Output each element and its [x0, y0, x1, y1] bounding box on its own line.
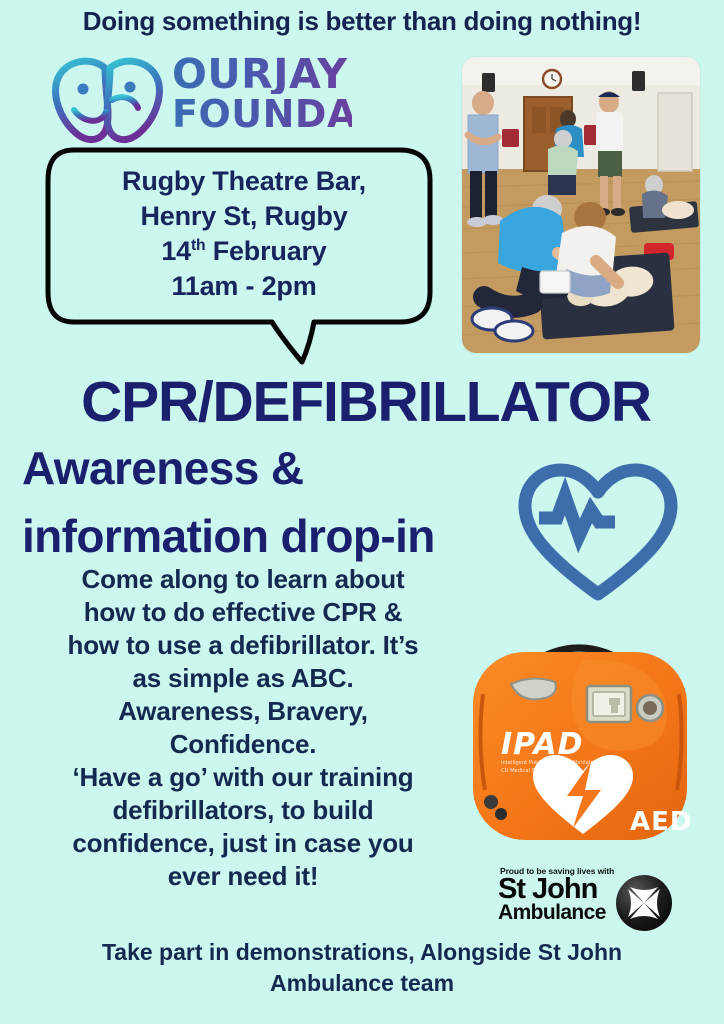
- headline-main: CPR/DEFIBRILLATOR: [8, 374, 724, 431]
- venue-line: Rugby Theatre Bar,: [44, 164, 444, 199]
- body-line: as simple as ABC.: [12, 662, 474, 695]
- date-line: 14th February: [44, 234, 444, 269]
- body-line: ever need it!: [12, 860, 474, 893]
- st-john-ambulance-logo: Proud to be saving lives with St John Am…: [498, 866, 698, 928]
- cpr-training-photo: [462, 57, 700, 353]
- st-john-line-1: St John: [498, 875, 597, 904]
- body-line: how to do effective CPR &: [12, 596, 474, 629]
- poster-tagline: Doing something is better than doing not…: [0, 6, 724, 37]
- ourjay-birds-mark: [50, 54, 168, 148]
- body-line: Awareness, Bravery,: [12, 695, 474, 728]
- logo-line-ourjay: OURJAY: [172, 56, 352, 94]
- body-copy: Come along to learn about how to do effe…: [12, 563, 474, 893]
- date-month: February: [213, 236, 327, 266]
- footer-line-1: Take part in demonstrations, Alongside S…: [12, 937, 712, 968]
- aed-defibrillator-image: IPAD Intelligent Public Access Defibrill…: [455, 632, 705, 854]
- time-line: 11am - 2pm: [44, 269, 444, 304]
- poster-canvas: Doing something is better than doing not…: [0, 0, 724, 1024]
- body-line: confidence, just in case you: [12, 827, 474, 860]
- svg-text:AED: AED: [630, 807, 692, 837]
- svg-text:IPAD: IPAD: [501, 727, 584, 762]
- maltese-cross-icon: [615, 874, 673, 932]
- footer-line-2: Ambulance team: [12, 968, 712, 999]
- body-line: how to use a defibrillator. It’s: [12, 629, 474, 662]
- heart-pulse-icon: [515, 460, 681, 602]
- st-john-line-2: Ambulance: [498, 902, 606, 923]
- date-suffix: th: [191, 237, 205, 254]
- address-line: Henry St, Rugby: [44, 199, 444, 234]
- footer-caption: Take part in demonstrations, Alongside S…: [12, 937, 712, 999]
- body-line: ‘Have a go’ with our training: [12, 761, 474, 794]
- date-number: 14: [161, 236, 191, 266]
- body-line: Come along to learn about: [12, 563, 474, 596]
- event-details-speech-bubble: Rugby Theatre Bar, Henry St, Rugby 14th …: [44, 146, 444, 372]
- event-details-text: Rugby Theatre Bar, Henry St, Rugby 14th …: [44, 164, 444, 304]
- body-line: defibrillators, to build: [12, 794, 474, 827]
- logo-line-foundation: FOUNDATION: [172, 97, 352, 132]
- body-line: Confidence.: [12, 728, 474, 761]
- ourjay-foundation-logo: OURJAY FOUNDATION: [50, 52, 350, 156]
- ourjay-wordmark: OURJAY FOUNDATION: [172, 56, 352, 132]
